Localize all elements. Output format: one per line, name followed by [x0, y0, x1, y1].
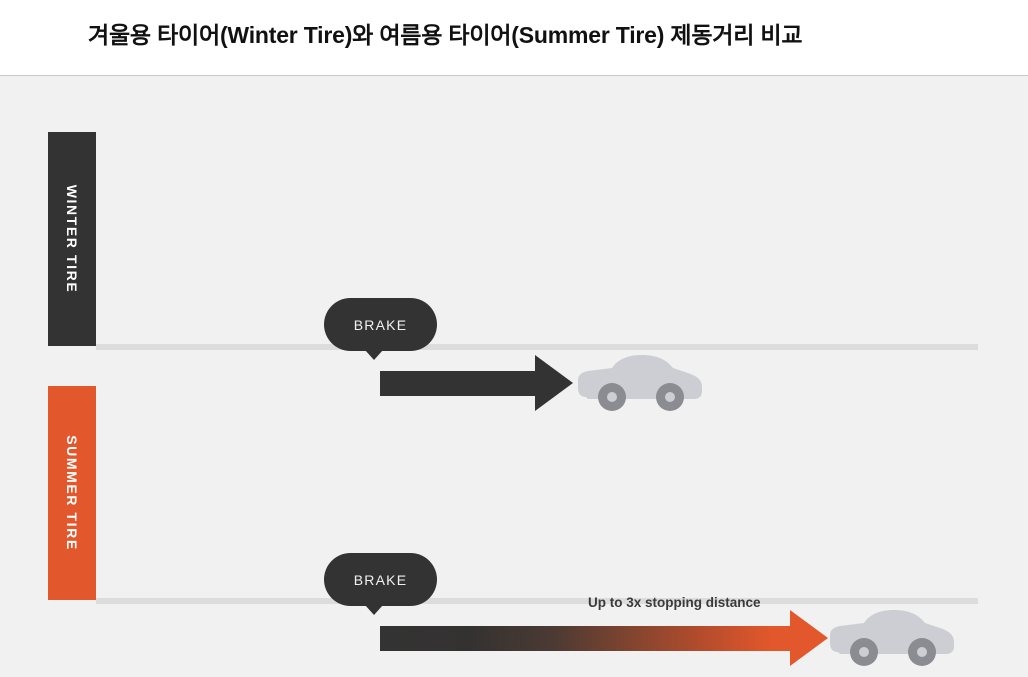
- brake-label-winter: BRAKE: [324, 317, 437, 333]
- ground-line-summer: [96, 598, 978, 604]
- arrow-head-icon-summer: [790, 610, 828, 666]
- page-title: 겨울용 타이어(Winter Tire)와 여름용 타이어(Summer Tir…: [88, 16, 802, 50]
- section-winter-tire: WINTER TIRE: [0, 132, 1028, 367]
- infographic-canvas: WINTER TIRE BRAKE SUMMER TIRE BRAKE: [0, 77, 1028, 653]
- summer-tire-label-bar: SUMMER TIRE: [48, 386, 96, 600]
- stopping-distance-arrow-summer: [380, 610, 827, 666]
- winter-tire-label-bar: WINTER TIRE: [48, 132, 96, 346]
- car-icon-summer: [830, 608, 956, 677]
- page-header: 겨울용 타이어(Winter Tire)와 여름용 타이어(Summer Tir…: [0, 0, 1028, 76]
- brake-label-summer: BRAKE: [324, 572, 437, 588]
- summer-tire-label: SUMMER TIRE: [64, 435, 80, 551]
- arrow-shaft-summer: [380, 626, 791, 651]
- stopping-distance-note: Up to 3x stopping distance: [588, 595, 761, 610]
- ground-line-winter: [96, 344, 978, 350]
- brake-bubble-winter: BRAKE: [324, 298, 437, 351]
- winter-tire-label: WINTER TIRE: [64, 185, 80, 294]
- section-summer-tire: SUMMER TIRE: [0, 386, 1028, 621]
- brake-bubble-summer: BRAKE: [324, 553, 437, 606]
